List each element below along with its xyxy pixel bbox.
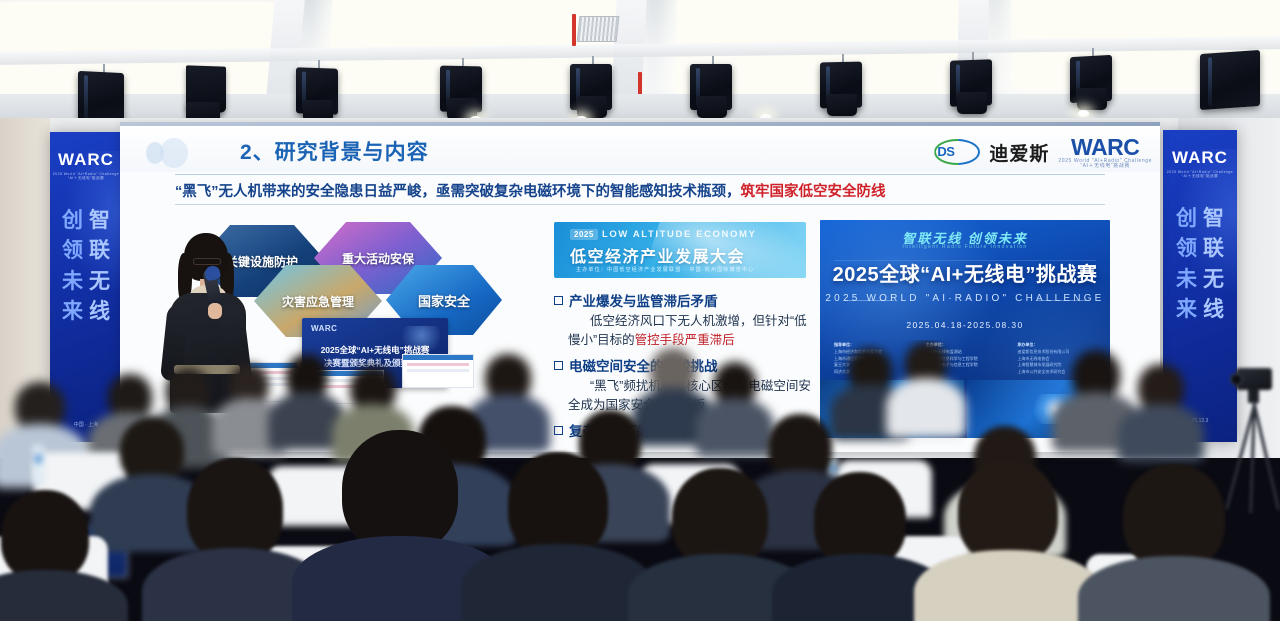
banner-fine-print: 主办单位：中国低空经济产业发展联盟 · 中国·杭州国际博览中心 xyxy=(576,266,754,273)
slide-subtitle: “黑飞”无人机带来的安全隐患日益严峻，亟需突破复杂电磁环境下的智能感知技术瓶颈，… xyxy=(175,180,1115,201)
hexagon-label: 国家安全 xyxy=(418,291,470,310)
banner-logo-block: WARC 2025 World "AI+Radio" Challenge “AI… xyxy=(50,150,122,181)
conference-scene: WARC 2025 World "AI+Radio" Challenge “AI… xyxy=(0,0,1280,621)
bullet-heading-text: 产业爆发与监管滞后矛盾 xyxy=(569,294,718,309)
card-warc-logo: WARC xyxy=(311,324,337,333)
banner-slogan-col-2: 智 联 无 线 xyxy=(1203,204,1224,326)
slide-logo-group: DS 迪爱斯 WARC 2025 World "AI+Radio" Challe… xyxy=(934,132,1152,172)
hexagon-label: 灾害应急管理 xyxy=(282,293,354,310)
audience-head xyxy=(508,452,608,558)
banner-char: 智 xyxy=(89,206,110,236)
water-bottle xyxy=(32,444,45,484)
audience-head xyxy=(187,458,283,562)
poster-date-range: 2025.04.18-2025.08.30 xyxy=(820,320,1110,330)
ceiling-speaker-sub xyxy=(957,92,987,114)
presenter-glasses xyxy=(193,258,221,265)
presenter-hand xyxy=(208,303,222,319)
ds-logo-abbr: DS xyxy=(937,144,954,159)
poster-rule xyxy=(1036,300,1086,301)
warc-logo-text: WARC xyxy=(1163,148,1237,168)
audience-member xyxy=(470,452,646,621)
warc-logo-text: WARC xyxy=(1058,136,1152,159)
poster-english-title: 2025 WORLD "AI·RADIO" CHALLENGE xyxy=(820,293,1110,304)
audience-head xyxy=(1,490,89,582)
banner-english-title: LOW ALTITUDE ECONOMY xyxy=(602,229,756,240)
slide-header: 2、研究背景与内容 DS 迪爱斯 WARC 2025 World "AI+Rad… xyxy=(120,126,1160,172)
audience-shoulders xyxy=(1118,404,1204,462)
page-title: 2、研究背景与内容 xyxy=(240,136,429,166)
header-divider xyxy=(175,174,1105,175)
banner-char: 联 xyxy=(89,236,110,266)
warc-logo-icon: WARC 2025 World "AI+Radio" Challenge “AI… xyxy=(1058,136,1152,169)
banner-char: 线 xyxy=(1203,295,1224,325)
audience-member xyxy=(890,342,962,434)
banner-logo-block: WARC 2025 World "AI+Radio" Challenge “AI… xyxy=(1163,148,1237,179)
warc-logo-sub-cn: “AI＋无线电”挑战赛 xyxy=(1058,164,1152,169)
ceiling-speaker-sub xyxy=(827,94,857,116)
audience-member xyxy=(922,460,1094,621)
banner-chinese-title: 低空经济产业发展大会 xyxy=(570,243,745,267)
ceiling-speaker-sub xyxy=(1077,88,1107,110)
hexagon-label: 重大活动安保 xyxy=(342,250,414,267)
banner-char: 未 xyxy=(1176,265,1197,295)
audience-head xyxy=(672,468,768,568)
audience-shoulders xyxy=(462,544,654,621)
ceiling-vent xyxy=(577,16,620,42)
warc-subtitle-cn: “AI＋无线电”挑战赛 xyxy=(1163,174,1237,179)
low-altitude-economy-banner: 2025 LOW ALTITUDE ECONOMY 低空经济产业发展大会 主办单… xyxy=(554,222,806,278)
bullet-square-icon xyxy=(554,296,563,305)
sprinkler-pipe xyxy=(572,14,576,46)
ceiling-speaker xyxy=(1200,50,1260,110)
audience-member xyxy=(0,490,120,621)
banner-char: 联 xyxy=(1203,234,1224,264)
banner-slogan-col-1: 创 领 未 来 xyxy=(62,206,83,328)
ceiling xyxy=(0,0,1280,128)
banner-char: 创 xyxy=(1176,204,1197,234)
audience-shoulders xyxy=(0,570,128,621)
banner-slogan-col-1: 创 领 未 来 xyxy=(1176,204,1197,326)
ds-logo-name: 迪爱斯 xyxy=(989,139,1049,166)
banner-char: 线 xyxy=(89,297,110,327)
banner-slogan: 创 领 未 来 智 联 无 线 xyxy=(1163,204,1237,326)
ceiling-downlight xyxy=(1078,110,1089,117)
audience-member xyxy=(1122,364,1200,456)
banner-char: 未 xyxy=(62,267,83,297)
banner-char: 来 xyxy=(1176,295,1197,325)
banner-slogan: 创 领 未 来 智 联 无 线 xyxy=(50,206,122,328)
audience-member xyxy=(1086,464,1262,621)
decor-circle xyxy=(160,138,188,168)
subtitle-divider xyxy=(175,204,1105,205)
banner-char: 无 xyxy=(89,267,110,297)
ceiling-speaker-sub xyxy=(577,96,607,118)
slide-subtitle-main: “黑飞”无人机带来的安全隐患日益严峻，亟需突破复杂电磁环境下的智能感知技术瓶颈， xyxy=(175,184,741,200)
audience-head xyxy=(958,460,1058,564)
audience-shoulders xyxy=(914,550,1102,621)
slide-subtitle-highlight: 筑牢国家低空安全防线 xyxy=(741,184,886,200)
banner-char: 智 xyxy=(1203,204,1224,234)
ds-logo-icon: DS xyxy=(934,139,980,165)
warc-subtitle-cn: “AI＋无线电”挑战赛 xyxy=(50,176,122,181)
banner-char: 来 xyxy=(62,297,83,327)
audience-shoulders xyxy=(1078,556,1270,621)
banner-char: 领 xyxy=(62,236,83,266)
banner-char: 创 xyxy=(62,206,83,236)
audience-head xyxy=(1123,464,1225,570)
audience-head xyxy=(342,430,458,552)
poster-slogan-en: Intelligent Radio Future Innovation xyxy=(820,244,1110,250)
banner-char: 领 xyxy=(1176,234,1197,264)
banner-year-badge: 2025 xyxy=(570,229,598,240)
warc-logo-text: WARC xyxy=(50,150,122,170)
ceiling-speaker-sub xyxy=(697,96,727,118)
banner-char: 无 xyxy=(1203,265,1224,295)
poster-main-title: 2025全球“AI+无线电”挑战赛 xyxy=(820,258,1110,287)
bullet-heading-1: 产业爆发与监管滞后矛盾 xyxy=(554,290,718,310)
banner-slogan-col-2: 智 联 无 线 xyxy=(89,206,110,328)
audience: 2025全球“AI+无线电”挑战赛 决赛暨颁奖典礼及颁奖仪式 xyxy=(0,340,1280,621)
